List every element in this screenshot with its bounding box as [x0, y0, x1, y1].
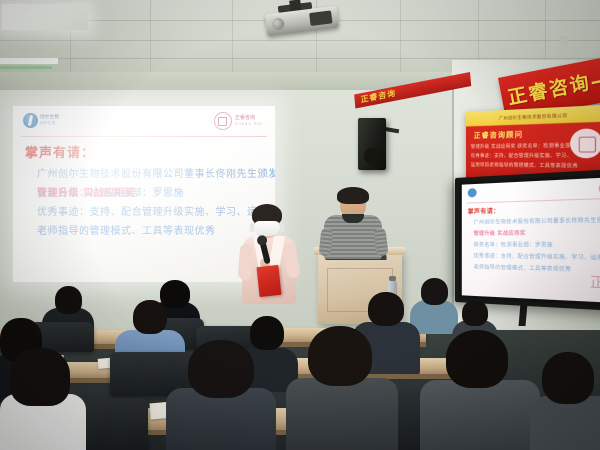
poster-line-2: 优秀事迹：支持、配合管理升级实施、学习、	[471, 153, 573, 160]
audience-person-front-4	[420, 330, 540, 450]
audience-person-front-5	[530, 352, 600, 450]
person-head	[446, 330, 508, 388]
ceiling-light-panel	[2, 4, 88, 30]
bottle-cap	[389, 276, 396, 281]
person-head	[308, 326, 372, 386]
person-body	[286, 378, 398, 450]
slide-line-1: 广州创尔生物技术股份有限公司董事长佟刚先生颁发：	[13, 165, 275, 180]
tv-line-4: 优秀事迹：支持、配合管理升级实施、学习、运用项目	[474, 252, 600, 262]
sprinkler-icon	[560, 36, 568, 48]
tv-screen: 掌声有请： 广州创尔生物技术股份有限公司董事长佟刚先生颁发： 管理升级 实战应用…	[462, 177, 600, 304]
slide-header: 创尔生物 创尔生物 正睿咨询 ZHENG RUI	[13, 106, 275, 136]
slide-body: 掌声有请： 广州创尔生物技术股份有限公司董事长佟刚先生颁发： 管理升级 实战应用…	[13, 142, 275, 241]
slide-header-divider	[21, 136, 267, 137]
ceiling-light-tube	[0, 58, 58, 64]
man-at-podium	[322, 190, 384, 256]
person-head	[133, 300, 167, 334]
slide-line-5: 老师指导的管理模式、工具等表现优秀	[13, 222, 275, 237]
ceiling-light-tube-2	[0, 66, 52, 69]
person-head	[10, 348, 70, 406]
poster-top-strip-text: 广州创尔生物技术股份有限公司	[499, 112, 568, 121]
red-certificate	[256, 265, 281, 297]
poster-line-3: 运用项目老师指导的管理模式、工具等表现优秀	[471, 162, 578, 170]
zhengrui-logo-text: 正睿咨询 ZHENG RUI	[235, 115, 263, 128]
person-head	[462, 300, 488, 326]
projector-lens	[271, 17, 284, 30]
slide-line-2: 管理升级 实战应用奖	[13, 184, 135, 199]
tv-line-2: 管理升级 实战应用奖	[474, 229, 526, 237]
tv-line-1: 广州创尔生物技术股份有限公司董事长佟刚先生颁发：	[474, 216, 600, 226]
zhengrui-logo-mark	[214, 112, 232, 130]
person-head	[368, 292, 404, 326]
tv-monitor: 掌声有请： 广州创尔生物技术股份有限公司董事长佟刚先生颁发： 管理升级 实战应用…	[455, 168, 600, 312]
poster-line-1: 管理升级 实战应用奖 获奖名单：检测事业部：	[471, 142, 577, 150]
person-head	[542, 352, 594, 404]
person-head	[421, 278, 448, 305]
projected-slide: 创尔生物 创尔生物 正睿咨询 ZHENG RUI 掌声有请： 广州创尔生物技术股…	[13, 106, 275, 282]
person-head	[188, 340, 254, 398]
audience-person-front-3	[286, 326, 398, 450]
zhengrui-logo: 正睿咨询 ZHENG RUI	[214, 112, 263, 130]
chuangerbio-logo-name: 创尔生物	[40, 115, 59, 120]
photo-scene: 正睿咨询 创尔生物 创尔生物 正睿咨询 ZHENG RUI 掌声有请：	[0, 0, 600, 450]
tv-line-title: 掌声有请：	[468, 206, 500, 216]
tv-chuangerbio-logo-icon	[468, 188, 477, 198]
zhengrui-logo-name: 正睿咨询	[235, 115, 255, 121]
tv-watermark: 正	[585, 272, 600, 295]
audience-person-front-2	[166, 340, 276, 450]
person-body	[420, 380, 540, 450]
audience-person-front-1	[0, 348, 86, 450]
tv-line-3: 获奖名单：检测事业部：罗思施	[474, 241, 553, 249]
person-body	[530, 396, 600, 450]
slide-line-4: 优秀事迹：支持、配合管理升级实施、学习、运用项目	[13, 203, 275, 218]
slide-line-title: 掌声有请：	[13, 142, 275, 161]
person-head	[55, 286, 82, 314]
projector-vent	[309, 10, 332, 26]
tv-line-5: 老师指导的管理模式、工具等表现优秀	[474, 263, 572, 273]
chuangerbio-logo-mark	[23, 113, 38, 128]
zhengrui-logo-sub: ZHENG RUI	[235, 122, 263, 126]
chuangerbio-logo-text: 创尔生物 创尔生物	[40, 115, 59, 126]
man-glasses-icon	[343, 201, 363, 206]
woman-arm-left	[238, 244, 253, 281]
poster-title: 正睿咨询顾问	[474, 129, 523, 141]
face-mask-icon	[254, 221, 280, 236]
chuangerbio-logo-sub: 创尔生物	[40, 121, 56, 125]
wall-speaker	[358, 118, 386, 170]
chuangerbio-logo: 创尔生物 创尔生物	[23, 113, 59, 128]
